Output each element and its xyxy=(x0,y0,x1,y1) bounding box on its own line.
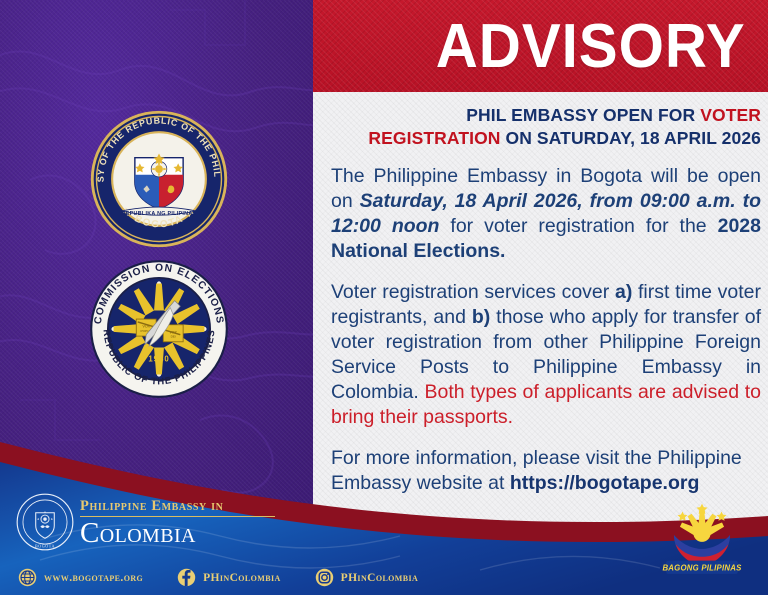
embassy-seal-scroll-text: REPUBLIKA NG PILIPINAS xyxy=(122,211,197,217)
p2-text-a: Voter registration services cover xyxy=(331,281,615,303)
advisory-title: ADVISORY xyxy=(436,16,746,78)
svg-text:BOGOTA: BOGOTA xyxy=(35,544,55,549)
comelec-seal-year: 1940 xyxy=(148,355,169,364)
social-website[interactable]: www.bogotape.org xyxy=(18,568,143,587)
headline-voter: VOTER xyxy=(700,105,761,125)
footer-brand: Philippine Embassy in Colombia xyxy=(78,498,293,550)
bagong-pilipinas-label: BAGONG PILIPINAS xyxy=(662,563,742,572)
globe-icon xyxy=(18,568,37,587)
footer-social-links: www.bogotape.org PHinColombia PHinColomb… xyxy=(18,568,452,587)
social-instagram[interactable]: PHinColombia xyxy=(315,568,419,587)
footer-brand-main: Colombia xyxy=(78,518,293,549)
headline-registration: REGISTRATION xyxy=(368,128,500,148)
social-facebook-label: PHinColombia xyxy=(203,572,281,584)
paragraph-schedule: The Philippine Embassy in Bogota will be… xyxy=(331,164,761,264)
social-website-label: www.bogotape.org xyxy=(44,572,143,584)
paragraph-services: Voter registration services cover a) fir… xyxy=(331,280,761,430)
social-instagram-label: PHinColombia xyxy=(341,572,419,584)
comelec-seal: COMMISSION ON ELECTIONS REPUBLIC OF THE … xyxy=(88,258,230,400)
facebook-icon xyxy=(177,568,196,587)
instagram-icon xyxy=(315,568,334,587)
footer-embassy-seal-icon: BOGOTA xyxy=(16,493,74,551)
bagong-pilipinas-logo: BAGONG PILIPINAS xyxy=(650,499,754,577)
headline-part-2: ON SATURDAY, 18 APRIL 2026 xyxy=(501,128,761,148)
footer-brand-top: Philippine Embassy in xyxy=(78,498,293,515)
headline-part-1: PHIL EMBASSY OPEN FOR xyxy=(466,105,700,125)
svg-text:DEI: DEI xyxy=(171,335,176,339)
p1-text-b: for voter registration for the xyxy=(439,215,717,237)
p2-label-a: a) xyxy=(615,281,632,303)
advisory-headline: PHIL EMBASSY OPEN FOR VOTER REGISTRATION… xyxy=(331,104,761,150)
social-facebook[interactable]: PHinColombia xyxy=(177,568,281,587)
embassy-seal: EMBASSY OF THE REPUBLIC OF THE PHILIPPIN… xyxy=(88,108,230,250)
p2-label-b: b) xyxy=(472,306,490,328)
advisory-poster: EMBASSY OF THE REPUBLIC OF THE PHILIPPIN… xyxy=(0,0,768,595)
